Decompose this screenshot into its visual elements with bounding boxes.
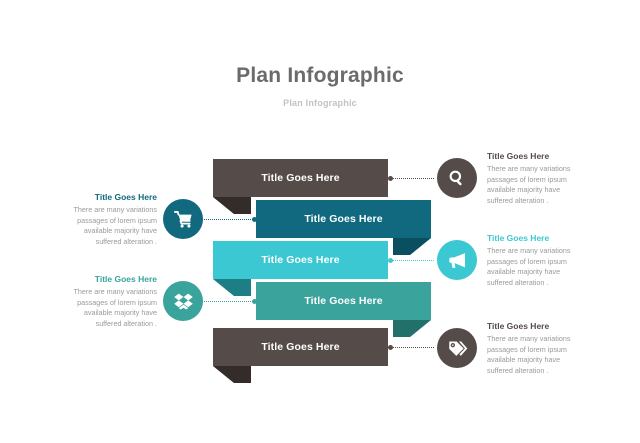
connector-knob	[252, 299, 257, 304]
banner-fold	[213, 366, 251, 383]
connector-line-1	[390, 178, 434, 180]
icon-badge-dropbox[interactable]	[163, 281, 203, 321]
icon-badge-megaphone[interactable]	[437, 240, 477, 280]
icon-badge-search[interactable]	[437, 158, 477, 198]
banner-face: Title Goes Here	[213, 159, 388, 197]
connector-knob	[388, 258, 393, 263]
icon-badge-cart[interactable]	[163, 199, 203, 239]
banner-label: Title Goes Here	[261, 172, 339, 184]
banner-step-3[interactable]: Title Goes Here	[213, 241, 388, 279]
banner-step-4[interactable]: Title Goes Here	[256, 282, 431, 320]
banner-label: Title Goes Here	[261, 254, 339, 266]
icon-badge-tag[interactable]	[437, 328, 477, 368]
connector-line-4	[200, 301, 255, 303]
detail-title: Title Goes Here	[487, 151, 587, 162]
detail-body: There are many variations passages of lo…	[487, 334, 587, 376]
banner-face: Title Goes Here	[256, 282, 431, 320]
dropbox-icon	[173, 291, 194, 312]
detail-block-2: Title Goes Here There are many variation…	[57, 192, 157, 247]
detail-body: There are many variations passages of lo…	[487, 246, 587, 288]
banner-label: Title Goes Here	[304, 295, 382, 307]
banner-fold	[213, 279, 251, 296]
detail-block-5: Title Goes Here There are many variation…	[487, 321, 587, 376]
detail-title: Title Goes Here	[487, 233, 587, 244]
banner-label: Title Goes Here	[304, 213, 382, 225]
detail-block-4: Title Goes Here There are many variation…	[57, 274, 157, 329]
detail-title: Title Goes Here	[57, 274, 157, 285]
megaphone-icon	[447, 250, 468, 271]
banner-label: Title Goes Here	[261, 341, 339, 353]
banner-step-5[interactable]: Title Goes Here	[213, 328, 388, 366]
search-icon	[447, 168, 467, 188]
page-subtitle: Plan Infographic	[0, 98, 640, 108]
tag-icon	[447, 338, 468, 359]
banner-face: Title Goes Here	[213, 328, 388, 366]
banner-fold	[213, 197, 251, 214]
banner-step-2[interactable]: Title Goes Here	[256, 200, 431, 238]
detail-body: There are many variations passages of lo…	[487, 164, 587, 206]
page-title: Plan Infographic	[0, 64, 640, 88]
connector-knob	[388, 345, 393, 350]
detail-title: Title Goes Here	[57, 192, 157, 203]
shopping-cart-icon	[173, 209, 194, 230]
infographic-canvas: Plan Infographic Plan Infographic Title …	[0, 0, 640, 443]
detail-block-3: Title Goes Here There are many variation…	[487, 233, 587, 288]
banner-fold	[393, 238, 431, 255]
banner-face: Title Goes Here	[256, 200, 431, 238]
detail-body: There are many variations passages of lo…	[57, 205, 157, 247]
connector-knob	[388, 176, 393, 181]
banner-fold	[393, 320, 431, 337]
detail-block-1: Title Goes Here There are many variation…	[487, 151, 587, 206]
connector-line-5	[390, 347, 434, 349]
connector-line-2	[200, 219, 255, 221]
banner-face: Title Goes Here	[213, 241, 388, 279]
banner-step-1[interactable]: Title Goes Here	[213, 159, 388, 197]
detail-body: There are many variations passages of lo…	[57, 287, 157, 329]
connector-line-3	[390, 260, 434, 262]
connector-knob	[252, 217, 257, 222]
detail-title: Title Goes Here	[487, 321, 587, 332]
